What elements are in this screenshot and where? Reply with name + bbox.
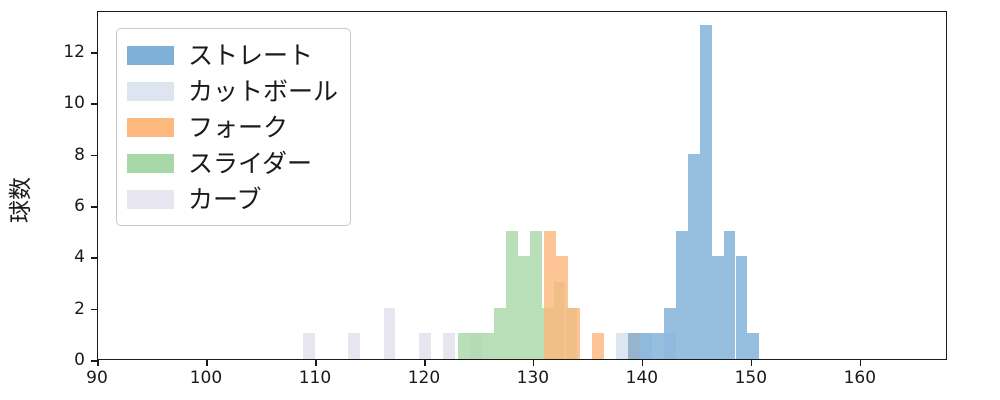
- x-tick-mark: [315, 360, 317, 366]
- y-tick-label: 8: [74, 145, 85, 165]
- histogram-bar-fork: [568, 308, 580, 359]
- histogram-bar-curve: [384, 308, 396, 359]
- legend: ストレートカットボールフォークスライダーカーブ: [116, 28, 351, 226]
- y-axis-label: 球数: [1, 177, 35, 223]
- histogram-bar-straight: [640, 333, 652, 359]
- y-tick-mark: [91, 52, 97, 54]
- legend-swatch-icon: [127, 46, 174, 65]
- legend-swatch-icon: [127, 154, 174, 173]
- histogram-bar-slider: [470, 333, 482, 359]
- legend-item-cutball[interactable]: カットボール: [127, 73, 338, 109]
- legend-item-slider[interactable]: スライダー: [127, 145, 338, 181]
- legend-swatch-icon: [127, 190, 174, 209]
- y-tick-mark: [91, 360, 97, 362]
- pitch-histogram-figure: 球数 ストレートカットボールフォークスライダーカーブ 9010011012013…: [0, 0, 1000, 400]
- legend-item-fork[interactable]: フォーク: [127, 109, 338, 145]
- y-tick-mark: [91, 309, 97, 311]
- histogram-bar-straight: [736, 256, 748, 359]
- x-tick-mark: [642, 360, 644, 366]
- histogram-bar-straight: [676, 231, 688, 359]
- legend-swatch-icon: [127, 82, 174, 101]
- histogram-bar-slider: [518, 256, 530, 359]
- legend-item-curve[interactable]: カーブ: [127, 181, 338, 217]
- x-tick-mark: [860, 360, 862, 366]
- x-tick-mark: [751, 360, 753, 366]
- histogram-bar-slider: [530, 231, 542, 359]
- x-tick-mark: [424, 360, 426, 366]
- x-tick-label: 160: [844, 368, 876, 388]
- x-tick-mark: [206, 360, 208, 366]
- legend-label: フォーク: [188, 115, 288, 140]
- histogram-bar-fork: [556, 256, 568, 359]
- histogram-bar-straight: [712, 256, 724, 359]
- y-tick-label: 0: [74, 350, 85, 370]
- x-tick-mark: [97, 360, 99, 366]
- histogram-bar-straight: [628, 333, 640, 359]
- histogram-bar-straight: [724, 231, 736, 359]
- legend-label: カットボール: [188, 79, 338, 104]
- histogram-bar-fork: [544, 231, 556, 359]
- legend-label: カーブ: [188, 187, 262, 212]
- legend-label: ストレート: [188, 43, 313, 68]
- histogram-bar-fork: [592, 333, 604, 359]
- y-tick-label: 6: [74, 196, 85, 216]
- histogram-bar-slider: [494, 308, 506, 359]
- histogram-bar-curve: [443, 333, 455, 359]
- histogram-bar-straight: [688, 154, 700, 359]
- legend-swatch-icon: [127, 118, 174, 137]
- x-tick-label: 130: [517, 368, 549, 388]
- legend-item-straight[interactable]: ストレート: [127, 37, 338, 73]
- y-tick-mark: [91, 155, 97, 157]
- legend-label: スライダー: [188, 151, 312, 176]
- x-tick-label: 110: [299, 368, 331, 388]
- histogram-bar-curve: [348, 333, 360, 359]
- x-tick-mark: [533, 360, 535, 366]
- y-tick-mark: [91, 206, 97, 208]
- histogram-bar-straight: [747, 333, 759, 359]
- y-tick-label: 12: [63, 42, 85, 62]
- x-tick-label: 150: [735, 368, 767, 388]
- histogram-bar-slider: [506, 231, 518, 359]
- histogram-bar-straight: [700, 25, 712, 359]
- y-tick-mark: [91, 103, 97, 105]
- histogram-bar-straight: [652, 333, 664, 359]
- x-tick-label: 140: [626, 368, 658, 388]
- x-tick-label: 90: [86, 368, 108, 388]
- histogram-bar-slider: [458, 333, 470, 359]
- y-tick-label: 4: [74, 247, 85, 267]
- x-tick-label: 100: [190, 368, 222, 388]
- y-tick-label: 10: [63, 93, 85, 113]
- histogram-bar-slider: [482, 333, 494, 359]
- x-tick-label: 120: [408, 368, 440, 388]
- histogram-bar-cutball: [616, 333, 628, 359]
- histogram-bar-curve: [419, 333, 431, 359]
- histogram-bar-curve: [303, 333, 315, 359]
- y-tick-label: 2: [74, 299, 85, 319]
- histogram-bar-straight: [664, 308, 676, 359]
- y-tick-mark: [91, 257, 97, 259]
